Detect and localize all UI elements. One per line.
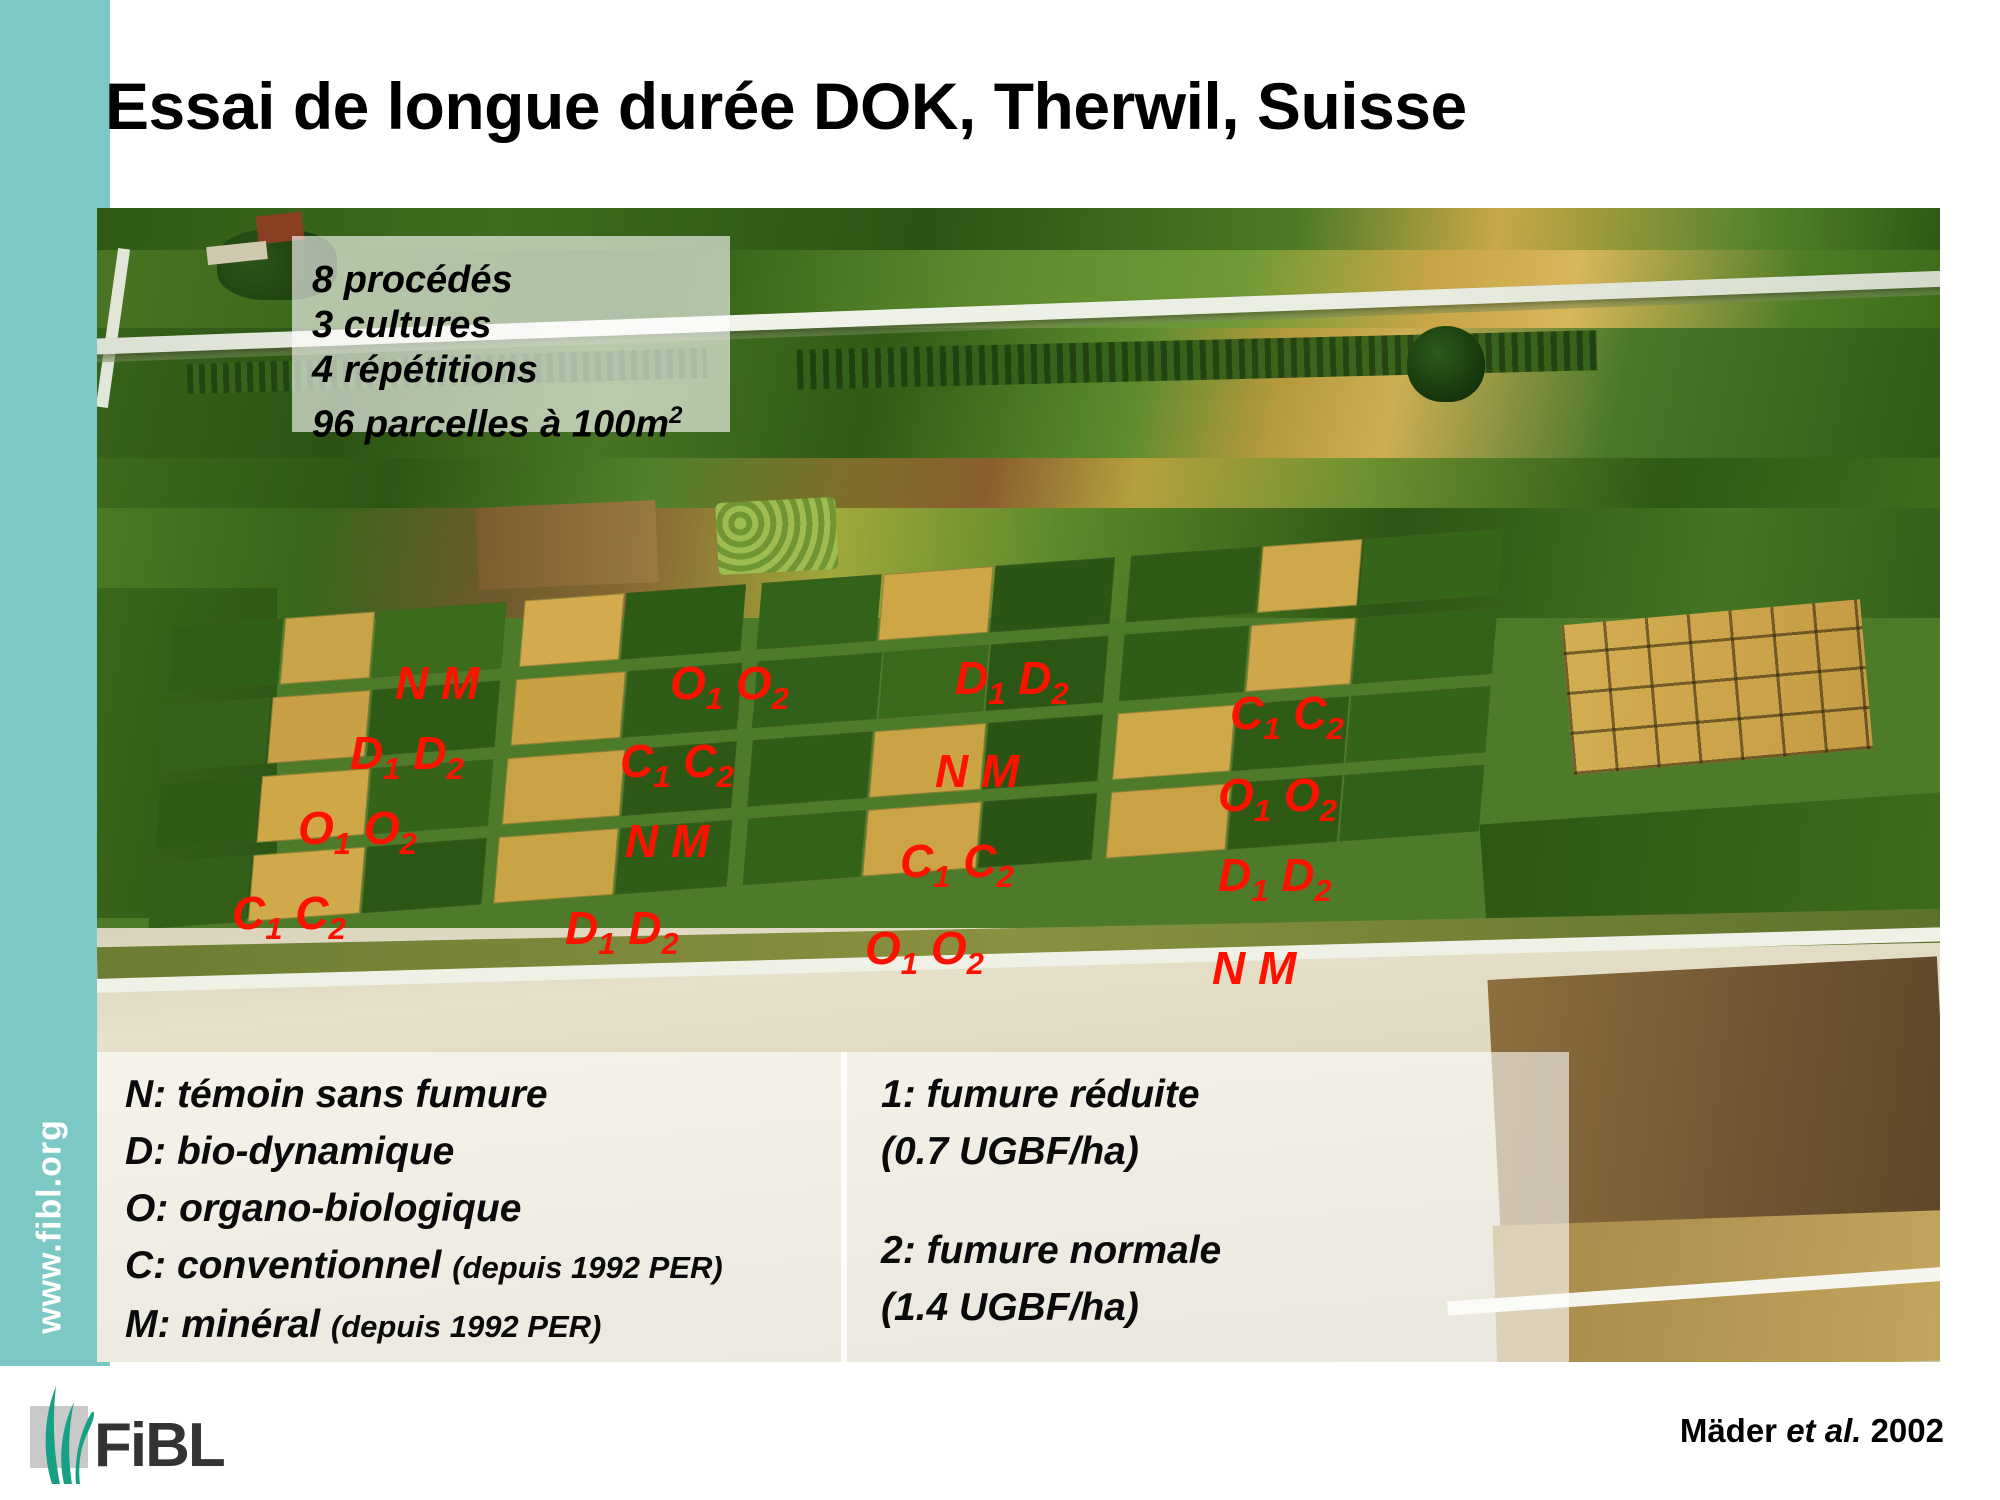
legend-item-O: O: organo-biologique [125, 1180, 841, 1237]
legend-item-2: 2: fumure normale [881, 1222, 1569, 1279]
plot-cell [168, 618, 283, 693]
legend-item-2-value: (1.4 UGBF/ha) [881, 1279, 1569, 1336]
info-line-procedes: 8 procédés [312, 258, 730, 303]
legend-item-1: 1: fumure réduite [881, 1066, 1569, 1123]
plot-label-text: O [670, 657, 706, 709]
plot-label-text: C [963, 835, 996, 887]
plot-label-sub: 2 [772, 681, 789, 716]
plot-label-text: O [736, 657, 772, 709]
plot-cell [155, 776, 260, 850]
plot-label-sub: 1 [1251, 873, 1268, 908]
plot-cell [621, 584, 746, 659]
plot-label-text: N M [395, 657, 479, 709]
plot-label-text: D [350, 727, 383, 779]
plot-label-sub: 2 [1320, 793, 1337, 828]
photo-large-tree [1407, 326, 1485, 402]
plot-label-text: C [683, 735, 716, 787]
plot-label-b1r4: C1 C2 [232, 890, 346, 944]
plot-label-sub: 1 [334, 826, 351, 861]
plot-label-text: O [1284, 769, 1320, 821]
plot-label-sub: 1 [598, 926, 615, 961]
plot-label-text: D [628, 902, 661, 954]
plot-cell [1246, 618, 1356, 692]
plot-label-sub: 1 [653, 759, 670, 794]
legend-item-D: D: bio-dynamique [125, 1123, 841, 1180]
plot-label-sub: 2 [997, 859, 1014, 894]
plot-label-sub: 2 [447, 751, 464, 786]
plot-label-sub: 2 [717, 759, 734, 794]
plot-label-b2r1: O1 O2 [670, 660, 789, 714]
plot-cell [990, 557, 1115, 632]
plot-label-sub: 1 [933, 859, 950, 894]
plot-label-sub: 2 [329, 911, 346, 946]
fibl-logo[interactable]: FiBL [22, 1380, 232, 1490]
plot-cell [519, 593, 624, 667]
plot-label-text: C [1293, 687, 1326, 739]
plot-label-text: N M [1212, 942, 1296, 994]
plot-cell [1359, 529, 1504, 606]
plot-label-b4r3: D1 D2 [1218, 852, 1332, 906]
plot-label-b2r2: C1 C2 [620, 738, 734, 792]
plot-label-text: C [232, 887, 265, 939]
plot-label-text: O [931, 922, 967, 974]
plot-cell [747, 731, 872, 806]
plot-label-b3r3: C1 C2 [900, 838, 1014, 892]
plot-label-sub: 2 [1315, 873, 1332, 908]
plot-cell [280, 611, 375, 684]
plot-label-sub: 1 [988, 676, 1005, 711]
plot-label-b4r4: N M [1212, 945, 1296, 991]
info-line-parcelles: 96 parcelles à 100m2 [312, 393, 730, 448]
plot-label-text: D [1281, 849, 1314, 901]
legend-column-treatments: N: témoin sans fumure D: bio-dynamique O… [97, 1052, 841, 1362]
info-line-cultures: 3 cultures [312, 303, 730, 348]
plot-label-text: C [1230, 687, 1263, 739]
legend-item-M-note: (depuis 1992 PER) [331, 1309, 601, 1344]
plot-label-sub: 2 [967, 946, 984, 981]
plot-cell [502, 750, 625, 825]
experiment-info-box: 8 procédés 3 cultures 4 répétitions 96 p… [292, 236, 730, 432]
fibl-logo-text: FiBL [94, 1410, 224, 1481]
legend-item-M-label: M: minéral [125, 1303, 331, 1346]
legend-item-M: M: minéral (depuis 1992 PER) [125, 1296, 841, 1355]
plot-label-text: O [364, 802, 400, 854]
info-line-repetitions: 4 répétitions [312, 348, 730, 393]
plot-label-text: D [565, 902, 598, 954]
legend-item-C-label: C: conventionnel [125, 1244, 452, 1287]
plot-cell [1257, 539, 1362, 613]
plot-label-text: D [955, 652, 988, 704]
citation-year: 2002 [1861, 1412, 1944, 1449]
plot-label-text: C [900, 835, 933, 887]
plot-cell [756, 574, 881, 649]
plot-label-b3r4: O1 O2 [865, 925, 984, 979]
citation-author: Mäder [1680, 1412, 1786, 1449]
plot-label-text: C [295, 887, 328, 939]
plot-label-text: O [1218, 769, 1254, 821]
plot-label-text: D [413, 727, 446, 779]
plot-cell [1339, 765, 1484, 842]
plot-label-b4r2: O1 O2 [1218, 772, 1337, 826]
legend-item-1-value: (0.7 UGBF/ha) [881, 1123, 1569, 1180]
plot-cell [1346, 686, 1491, 763]
plot-label-sub: 2 [662, 926, 679, 961]
plot-cell [1352, 607, 1497, 684]
photo-bare-soil-plot [475, 500, 658, 590]
plot-label-sub: 1 [383, 751, 400, 786]
page-title: Essai de longue durée DOK, Therwil, Suis… [105, 68, 1467, 144]
plot-cell [161, 697, 270, 771]
plot-label-text: O [865, 922, 901, 974]
plot-label-sub: 1 [1254, 793, 1271, 828]
plot-label-b2r3: N M [625, 818, 709, 864]
plot-label-b4r1: C1 C2 [1230, 690, 1344, 744]
legend-column-fertilisation: 1: fumure réduite (0.7 UGBF/ha) 2: fumur… [841, 1052, 1569, 1362]
plot-label-text: O [298, 802, 334, 854]
plot-label-b1r3: O1 O2 [298, 805, 417, 859]
citation-etal: et al. [1786, 1412, 1861, 1449]
legend-item-C-note: (depuis 1992 PER) [452, 1250, 722, 1285]
plot-cell [511, 671, 626, 746]
photo-right-grid-field [1561, 599, 1873, 775]
plot-cell [1125, 546, 1260, 622]
plot-label-b1r1: N M [395, 660, 479, 706]
plot-label-sub: 1 [706, 681, 723, 716]
plot-label-sub: 1 [265, 911, 282, 946]
plot-label-sub: 2 [1052, 676, 1069, 711]
plot-label-text: N M [935, 745, 1019, 797]
slide-root: www.fibl.org Essai de longue durée DOK, … [0, 0, 2000, 1500]
plot-label-text: C [620, 735, 653, 787]
plot-cell [493, 828, 618, 903]
plot-label-b3r1: D1 D2 [955, 655, 1069, 709]
plot-label-text: D [1218, 849, 1251, 901]
legend-item-N: N: témoin sans fumure [125, 1066, 841, 1123]
info-parcelles-text: 96 parcelles à 100m [312, 404, 669, 446]
plot-label-b1r2: D1 D2 [350, 730, 464, 784]
left-teal-sidebar: www.fibl.org [0, 0, 110, 1366]
plot-cell [878, 566, 993, 641]
plot-label-b2r4: D1 D2 [565, 905, 679, 959]
plot-cell [1106, 783, 1231, 858]
plot-label-b3r2: N M [935, 748, 1019, 794]
plot-label-sub: 2 [1327, 711, 1344, 746]
plot-label-sub: 1 [1263, 711, 1280, 746]
legend-spacer [881, 1180, 1569, 1222]
plot-cell [743, 810, 866, 885]
citation-reference: Mäder et al. 2002 [1680, 1412, 1944, 1450]
plot-label-sub: 2 [400, 826, 417, 861]
info-parcelles-exponent: 2 [669, 402, 682, 429]
photo-vegetable-plot [715, 497, 839, 575]
legend-item-C: C: conventionnel (depuis 1992 PER) [125, 1237, 841, 1296]
plot-label-sub: 1 [901, 946, 918, 981]
plot-label-text: N M [625, 815, 709, 867]
plot-label-text: D [1018, 652, 1051, 704]
legend-box: N: témoin sans fumure D: bio-dynamique O… [97, 1052, 1569, 1362]
